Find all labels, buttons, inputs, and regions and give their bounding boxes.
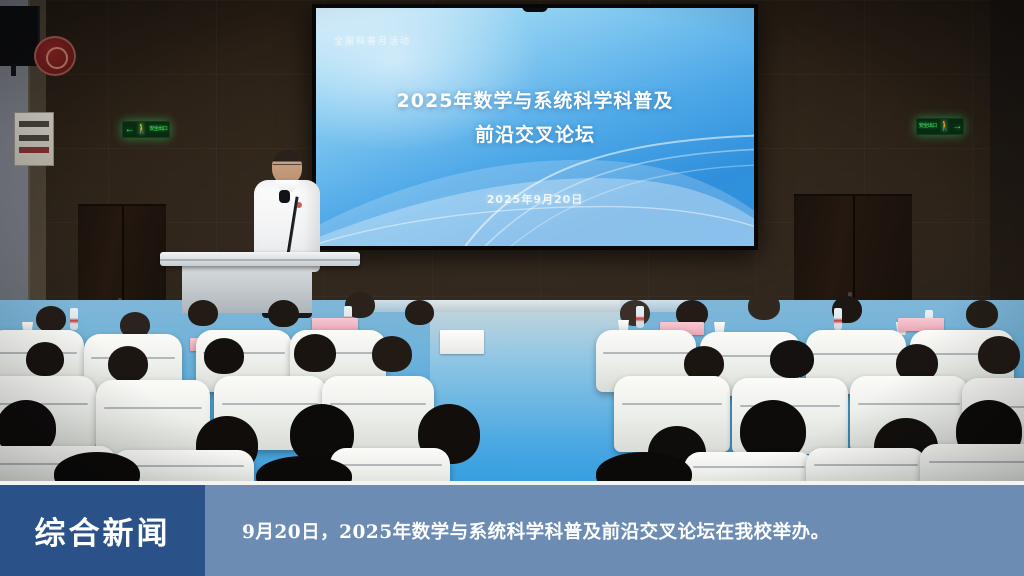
podium-emblem-icon [34,36,76,76]
audience-head [748,292,780,320]
caption-text: 9月20日，2025年数学与系统科学科普及前沿交叉论坛在我校举办。 [242,518,830,544]
arrow-left-icon: ← [125,125,134,135]
microphone-icon [279,190,290,203]
projection-screen-frame: 全国科普月活动 2025年数学与系统科学科普及 前沿交叉论坛 2025年9月20… [312,4,758,250]
audience-head [204,338,244,374]
slide-brand-line: 全国科普月活动 [334,34,411,47]
exit-sign-right-icon: 安全出口 🚶 → [916,118,964,135]
slide-title: 2025年数学与系统科学科普及 前沿交叉论坛 [316,84,754,152]
audience-head [966,300,998,328]
exit-sign-left-icon: ← 🚶 安全出口 [122,121,170,138]
screenshot-stage: ← 🚶 安全出口 安全出口 🚶 → 全国科普月活动 [0,0,1024,576]
seat [96,380,210,456]
slide-title-line-2: 前沿交叉论坛 [316,118,754,152]
running-person-icon: 🚶 [939,122,950,132]
audience-head [372,336,412,372]
projection-screen: 全国科普月活动 2025年数学与系统科学科普及 前沿交叉论坛 2025年9月20… [316,8,754,246]
audience-head [294,334,336,372]
glasses-icon [273,164,301,170]
arrow-right-icon: → [952,122,961,132]
name-card [440,330,484,354]
ceiling-camera-icon [522,8,548,12]
audience-head [188,300,218,326]
category-label: 综合新闻 [35,508,171,553]
audience-head [770,340,814,378]
audience-head [268,300,299,327]
caption-bar: 综合新闻 9月20日，2025年数学与系统科学科普及前沿交叉论坛在我校举办。 [0,485,1024,576]
category-block: 综合新闻 [0,485,205,576]
water-bottle [834,308,842,330]
water-bottle [636,306,644,328]
exit-sign-text: 安全出口 [919,124,937,129]
exit-sign-text: 安全出口 [149,127,167,132]
caption-text-block: 9月20日，2025年数学与系统科学科普及前沿交叉论坛在我校举办。 [205,485,1024,576]
audience-head [108,346,148,382]
audience-head [26,342,64,376]
slide-date: 2025年9月20日 [316,191,754,207]
podium [160,252,360,312]
right-side-wall [990,0,1024,300]
running-person-icon: 🚶 [136,125,147,135]
slide-title-line-1: 2025年数学与系统科学科普及 [316,84,754,118]
electrical-panel [14,112,54,166]
water-bottle [70,308,78,330]
audience-head [978,336,1020,374]
audience-head [36,306,66,332]
audience-head [405,300,434,325]
podium-desktop [160,252,360,266]
